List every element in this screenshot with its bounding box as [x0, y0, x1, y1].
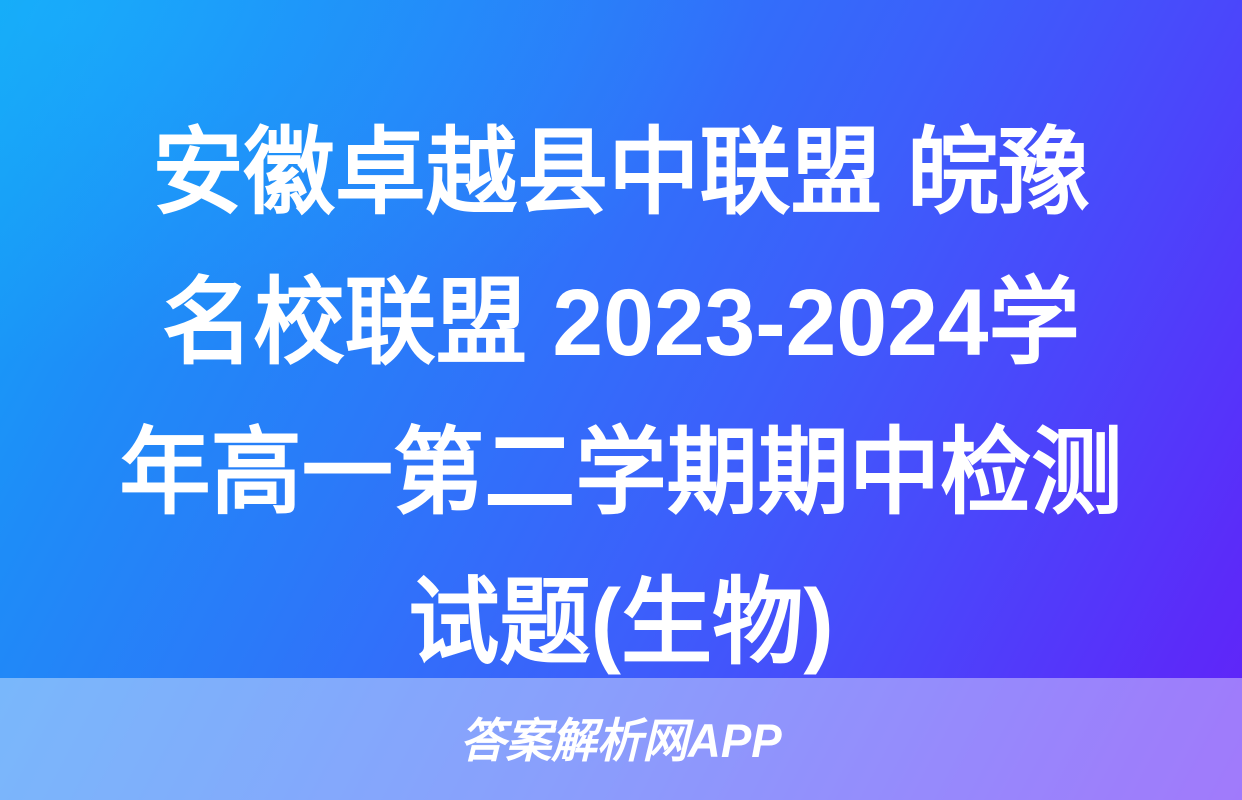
title-line-1: 安徽卓越县中联盟 皖豫 [25, 98, 1217, 248]
title-line-2: 名校联盟 2023-2024学 [25, 248, 1217, 398]
exam-title-card: 安徽卓越县中联盟 皖豫 名校联盟 2023-2024学 年高一第二学期期中检测 … [0, 0, 1242, 800]
title-line-4: 试题(生物) [25, 548, 1217, 698]
exam-title-block: 安徽卓越县中联盟 皖豫 名校联盟 2023-2024学 年高一第二学期期中检测 … [0, 0, 1242, 698]
title-line-3: 年高一第二学期期中检测 [25, 398, 1217, 548]
watermark-app-label: 答案解析网APP [460, 717, 782, 764]
watermark-band: 答案解析网APP [0, 678, 1242, 800]
